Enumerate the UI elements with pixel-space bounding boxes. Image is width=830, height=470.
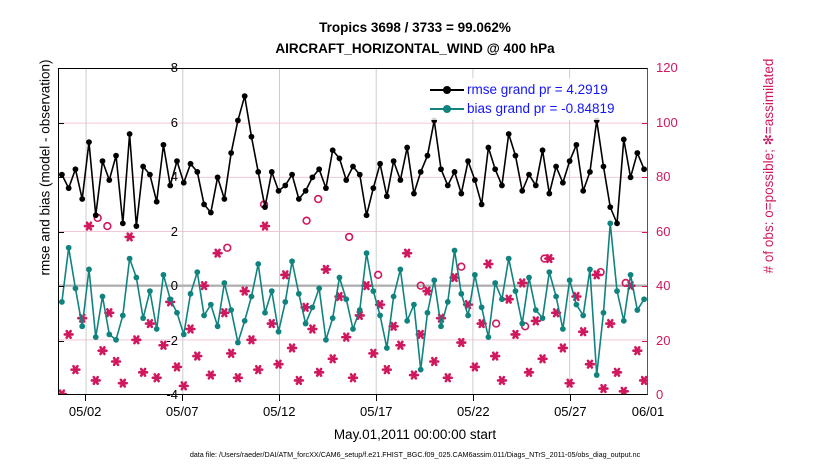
data-file-caption: data file: /Users/raeder/DAI/ATM_forcXX/… <box>0 450 830 459</box>
x-axis-tick-label: 05/27 <box>540 404 600 419</box>
x-axis-label: May.01,2011 00:00:00 start <box>0 427 830 442</box>
y-axis-left-tick-mark <box>58 286 64 287</box>
y-axis-right-tick-mark <box>642 123 648 124</box>
x-axis-tick-mark <box>473 395 474 401</box>
y-axis-left-tick-label: 0 <box>138 278 178 293</box>
y-axis-left-tick-label: 6 <box>138 115 178 130</box>
y-axis-right-tick-mark <box>642 232 648 233</box>
y-axis-right-tick-label: 40 <box>656 278 702 293</box>
chart-legend: rmse grand pr = 4.2919 bias grand pr = -… <box>428 78 618 120</box>
legend-item-bias: bias grand pr = -0.84819 <box>430 99 614 118</box>
chart-figure: Tropics 3698 / 3733 = 99.062% AIRCRAFT_H… <box>0 0 830 470</box>
y-axis-left-tick-label: 2 <box>138 224 178 239</box>
legend-marker-bias-icon <box>430 103 464 115</box>
x-axis-tick-mark <box>85 395 86 401</box>
y-axis-right-tick-mark <box>642 286 648 287</box>
x-axis-tick-label: 05/17 <box>346 404 406 419</box>
y-axis-right-tick-label: 20 <box>656 333 702 348</box>
x-axis-tick-label: 06/01 <box>618 404 678 419</box>
y-axis-left-tick-label: 4 <box>138 169 178 184</box>
x-axis-tick-label: 05/07 <box>152 404 212 419</box>
y-axis-left-tick-mark <box>58 177 64 178</box>
y-axis-left-label: rmse and bias (model - observation) <box>38 3 53 333</box>
y-axis-left-tick-label: -4 <box>138 387 178 402</box>
x-axis-tick-label: 05/02 <box>55 404 115 419</box>
y-axis-left-tick-mark <box>58 341 64 342</box>
y-axis-right-label: # of obs: o=possible; ✻=assimilated <box>761 1 777 331</box>
y-axis-right-tick-label: 80 <box>656 169 702 184</box>
y-axis-right-tick-label: 120 <box>656 60 702 75</box>
legend-item-rmse: rmse grand pr = 4.2919 <box>430 80 614 99</box>
chart-title-line1: Tropics 3698 / 3733 = 99.062% <box>0 20 830 35</box>
y-axis-right-tick-label: 0 <box>656 387 702 402</box>
y-axis-left-tick-label: 8 <box>138 60 178 75</box>
y-axis-left-tick-mark <box>58 123 64 124</box>
x-axis-tick-label: 05/12 <box>249 404 309 419</box>
y-axis-right-tick-label: 100 <box>656 115 702 130</box>
legend-label-bias: bias grand pr = -0.84819 <box>467 101 614 116</box>
y-axis-right-tick-mark <box>642 341 648 342</box>
y-axis-left-tick-label: -2 <box>138 333 178 348</box>
y-axis-right-tick-label: 60 <box>656 224 702 239</box>
chart-title-line2: AIRCRAFT_HORIZONTAL_WIND @ 400 hPa <box>0 41 830 56</box>
x-axis-tick-mark <box>182 395 183 401</box>
x-axis-tick-label: 05/22 <box>443 404 503 419</box>
x-axis-tick-mark <box>279 395 280 401</box>
legend-label-rmse: rmse grand pr = 4.2919 <box>467 82 608 97</box>
legend-marker-rmse-icon <box>430 84 464 96</box>
y-axis-left-tick-mark <box>58 232 64 233</box>
x-axis-tick-mark <box>570 395 571 401</box>
x-axis-tick-mark <box>376 395 377 401</box>
y-axis-right-tick-mark <box>642 177 648 178</box>
